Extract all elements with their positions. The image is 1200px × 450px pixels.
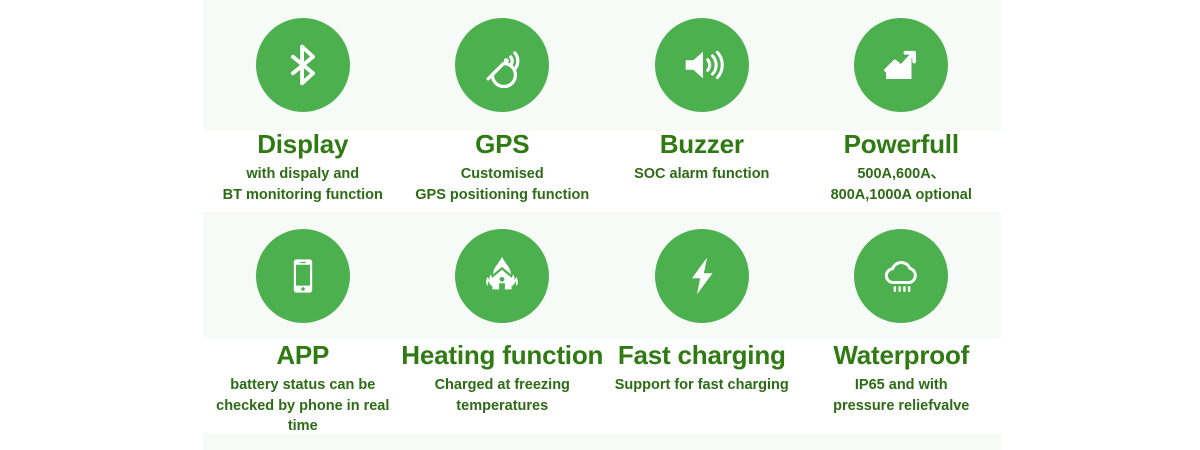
feature-highlights-page: Display with dispaly and BT monitoring f… — [0, 0, 1200, 450]
feature-item-powerfull[interactable]: Powerfull 500A,600A、 800A,1000A optional — [802, 18, 1002, 205]
feature-item-gps[interactable]: GPS Customised GPS positioning function — [403, 18, 603, 205]
feature-description: Customised GPS positioning function — [415, 164, 589, 205]
feature-item-waterproof[interactable]: Waterproof IP65 and with pressure relief… — [802, 229, 1002, 437]
rain-cloud-icon-circle — [854, 229, 948, 323]
feature-item-buzzer[interactable]: Buzzer SOC alarm function — [602, 18, 802, 205]
feature-title: Display — [257, 131, 348, 158]
feature-item-fast-charging[interactable]: Fast charging Support for fast charging — [602, 229, 802, 437]
feature-title: Waterproof — [833, 342, 969, 369]
feature-title: GPS — [475, 131, 529, 158]
feature-description: with dispaly and BT monitoring function — [223, 164, 383, 205]
bluetooth-icon-circle — [256, 18, 350, 112]
feature-description: Support for fast charging — [615, 375, 789, 396]
feature-description: Charged at freezing temperatures — [435, 375, 570, 416]
trending-up-chart-icon-circle — [854, 18, 948, 112]
feature-title: APP — [276, 342, 329, 369]
feature-item-heating-function[interactable]: Heating function Charged at freezing tem… — [403, 229, 603, 437]
feature-row-top: Display with dispaly and BT monitoring f… — [203, 18, 1001, 205]
feature-item-app[interactable]: APP battery status can be checked by pho… — [203, 229, 403, 437]
house-flame-icon — [479, 253, 525, 299]
feature-title: Heating function — [401, 342, 603, 369]
gps-satellite-dish-icon — [479, 42, 525, 88]
feature-description: SOC alarm function — [634, 164, 769, 185]
speaker-buzzer-icon — [679, 42, 725, 88]
feature-title: Fast charging — [618, 342, 786, 369]
feature-row-bottom: APP battery status can be checked by pho… — [203, 229, 1001, 437]
gps-satellite-dish-icon-circle — [455, 18, 549, 112]
smartphone-icon-circle — [256, 229, 350, 323]
feature-description: battery status can be checked by phone i… — [203, 375, 403, 437]
smartphone-icon — [283, 256, 323, 296]
trending-up-chart-icon — [880, 44, 922, 86]
rain-cloud-icon — [879, 254, 923, 298]
bluetooth-icon — [281, 43, 325, 87]
feature-description: 500A,600A、 800A,1000A optional — [831, 164, 972, 205]
feature-description: IP65 and with pressure reliefvalve — [833, 375, 969, 416]
feature-title: Buzzer — [660, 131, 744, 158]
speaker-buzzer-icon-circle — [655, 18, 749, 112]
feature-item-display[interactable]: Display with dispaly and BT monitoring f… — [203, 18, 403, 205]
house-flame-icon-circle — [455, 229, 549, 323]
lightning-bolt-icon-circle — [655, 229, 749, 323]
lightning-bolt-icon — [680, 254, 724, 298]
feature-title: Powerfull — [844, 131, 959, 158]
